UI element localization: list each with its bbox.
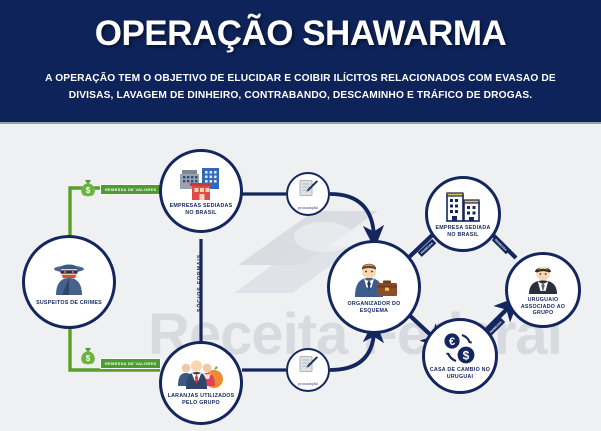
svg-text:$: $ [86, 186, 91, 195]
edge-label-socios-formais: SÓCIOS FORMAIS [197, 254, 203, 312]
man-suit-icon [525, 263, 561, 295]
svg-text:€: € [449, 336, 455, 348]
node-label: SUSPEITOS DE CRIMES [33, 300, 105, 307]
doc-node-label: procuração [298, 206, 318, 210]
node-label: LARANJAS UTILIZADOS PELO GRUPO [162, 393, 240, 406]
node-casa-de-cambio-no-uruguai[interactable]: € $ CASA DE CAMBIO NO URUGUAI [422, 318, 498, 394]
node-label: URUGUAIO ASSOCIADO AO GRUPO [508, 297, 578, 317]
node-empresa-sediada-no-brasil[interactable]: EMPRESA SEDIADA NO BRASIL [425, 176, 501, 252]
businessman-briefcase-icon [349, 259, 399, 299]
node-label: EMPRESA SEDIADA NO BRASIL [428, 225, 498, 238]
people-group-icon [177, 359, 225, 391]
spy-icon [49, 258, 89, 298]
money-bag-icon: $ [79, 178, 97, 198]
node-label: ORGANIZADOR DO ESQUEMA [330, 301, 418, 314]
node-procuracao-bottom[interactable]: procuração [286, 348, 330, 392]
currency-exchange-icon: € $ [440, 331, 480, 365]
node-suspeitos-de-crimes[interactable]: SUSPEITOS DE CRIMES [22, 235, 116, 329]
note-pencil-icon [297, 354, 319, 381]
money-bag-icon: $ [79, 346, 97, 366]
doc-node-label: procuração [298, 382, 318, 386]
flow-label-remessa-top: REMESSA DE VALORES [100, 184, 161, 195]
note-pencil-icon [297, 178, 319, 205]
buildings-icon [178, 165, 224, 201]
node-uruguaio-associado-ao-grupo[interactable]: URUGUAIO ASSOCIADO AO GRUPO [505, 252, 581, 328]
node-label: EMPRESAS SEDIADAS NO BRASIL [162, 203, 240, 216]
flow-label-remessa-bottom: REMESSA DE VALORES [100, 358, 161, 369]
node-laranjas-utilizados-pelo-grupo[interactable]: LARANJAS UTILIZADOS PELO GRUPO [159, 341, 243, 425]
node-procuracao-top[interactable]: procuração [286, 172, 330, 216]
node-organizador-do-esquema[interactable]: ORGANIZADOR DO ESQUEMA [327, 240, 421, 334]
infographic-canvas: OPERAÇÃO SHAWARMA A OPERAÇÃO TEM O OBJET… [0, 0, 601, 431]
svg-text:$: $ [86, 354, 91, 363]
svg-text:$: $ [463, 349, 470, 363]
node-empresas-sediadas-no-brasil[interactable]: EMPRESAS SEDIADAS NO BRASIL [159, 149, 243, 233]
office-building-icon [444, 189, 482, 223]
node-label: CASA DE CAMBIO NO URUGUAI [425, 367, 495, 380]
